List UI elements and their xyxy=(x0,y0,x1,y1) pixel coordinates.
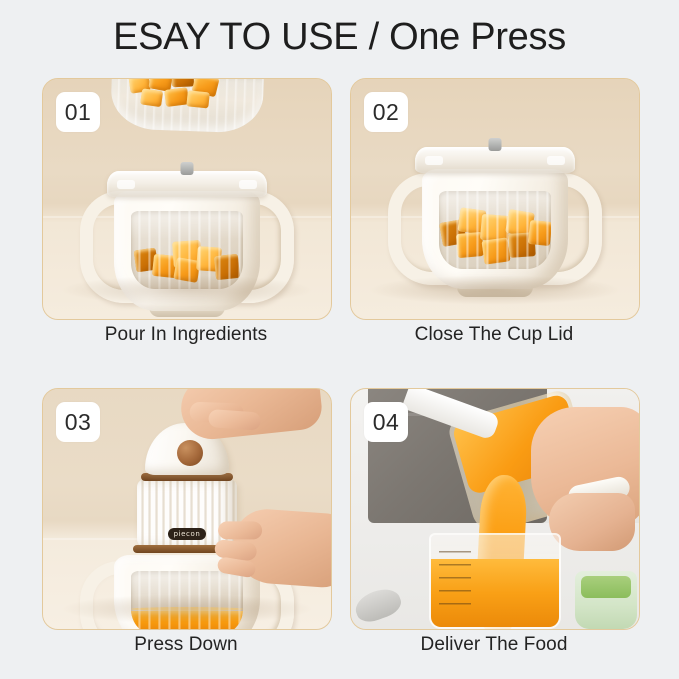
finger xyxy=(218,521,262,539)
fruit-cube xyxy=(481,237,510,264)
measurement-marks xyxy=(439,551,471,615)
glass-gloss xyxy=(131,571,243,594)
step-badge-01: 01 xyxy=(56,92,100,132)
cup-lid xyxy=(415,147,575,173)
lid-tab-left xyxy=(117,180,135,189)
press-knob[interactable] xyxy=(177,440,203,466)
lid-tab-right xyxy=(239,180,257,189)
green-puree xyxy=(581,576,631,598)
step-card-04: 04 Deliver The Food xyxy=(350,388,638,656)
pouring-bowl xyxy=(110,78,264,134)
step-card-02: 02 Close The Cup Lid xyxy=(350,78,638,346)
fruit-cube xyxy=(172,78,195,87)
fruit-cube xyxy=(140,88,163,107)
lid-tab-left xyxy=(425,156,443,165)
step-photo-02: 02 xyxy=(350,78,640,320)
step-photo-04: 04 xyxy=(350,388,640,630)
brand-badge: piecon xyxy=(168,528,206,540)
step-caption-04: Deliver The Food xyxy=(350,634,638,656)
step-card-03: piecon xyxy=(42,388,330,656)
fruit-cube xyxy=(528,220,551,246)
step-caption-03: Press Down xyxy=(42,634,330,656)
step-photo-03: piecon xyxy=(42,388,332,630)
supporting-hand xyxy=(231,507,332,589)
steps-grid: 01 Pour In Ingredients xyxy=(42,78,638,656)
cup-window xyxy=(439,191,551,269)
step-badge-04: 04 xyxy=(364,402,408,442)
infographic-page: ESAY TO USE / One Press xyxy=(0,0,679,679)
glass-gloss xyxy=(439,191,551,219)
measuring-cup xyxy=(429,533,561,629)
supporting-hand xyxy=(549,493,635,551)
step-card-01: 01 Pour In Ingredients xyxy=(42,78,330,346)
step-caption-01: Pour In Ingredients xyxy=(42,324,330,346)
lid-tab-right xyxy=(547,156,565,165)
glass-gloss xyxy=(131,211,243,239)
step-photo-01: 01 xyxy=(42,78,332,320)
drop-shadow xyxy=(60,275,313,305)
drop-shadow xyxy=(368,275,621,305)
step-badge-03: 03 xyxy=(56,402,100,442)
page-title: ESAY TO USE / One Press xyxy=(0,16,679,59)
green-bowl xyxy=(575,571,637,629)
lid-knob xyxy=(181,162,194,175)
step-caption-02: Close The Cup Lid xyxy=(350,324,638,346)
fruit-cube xyxy=(186,90,210,108)
lid-knob xyxy=(489,138,502,151)
finger xyxy=(208,409,261,431)
drop-shadow xyxy=(60,594,313,624)
fruit-cube xyxy=(164,87,189,107)
cup-lid xyxy=(107,171,267,197)
step-badge-02: 02 xyxy=(364,92,408,132)
